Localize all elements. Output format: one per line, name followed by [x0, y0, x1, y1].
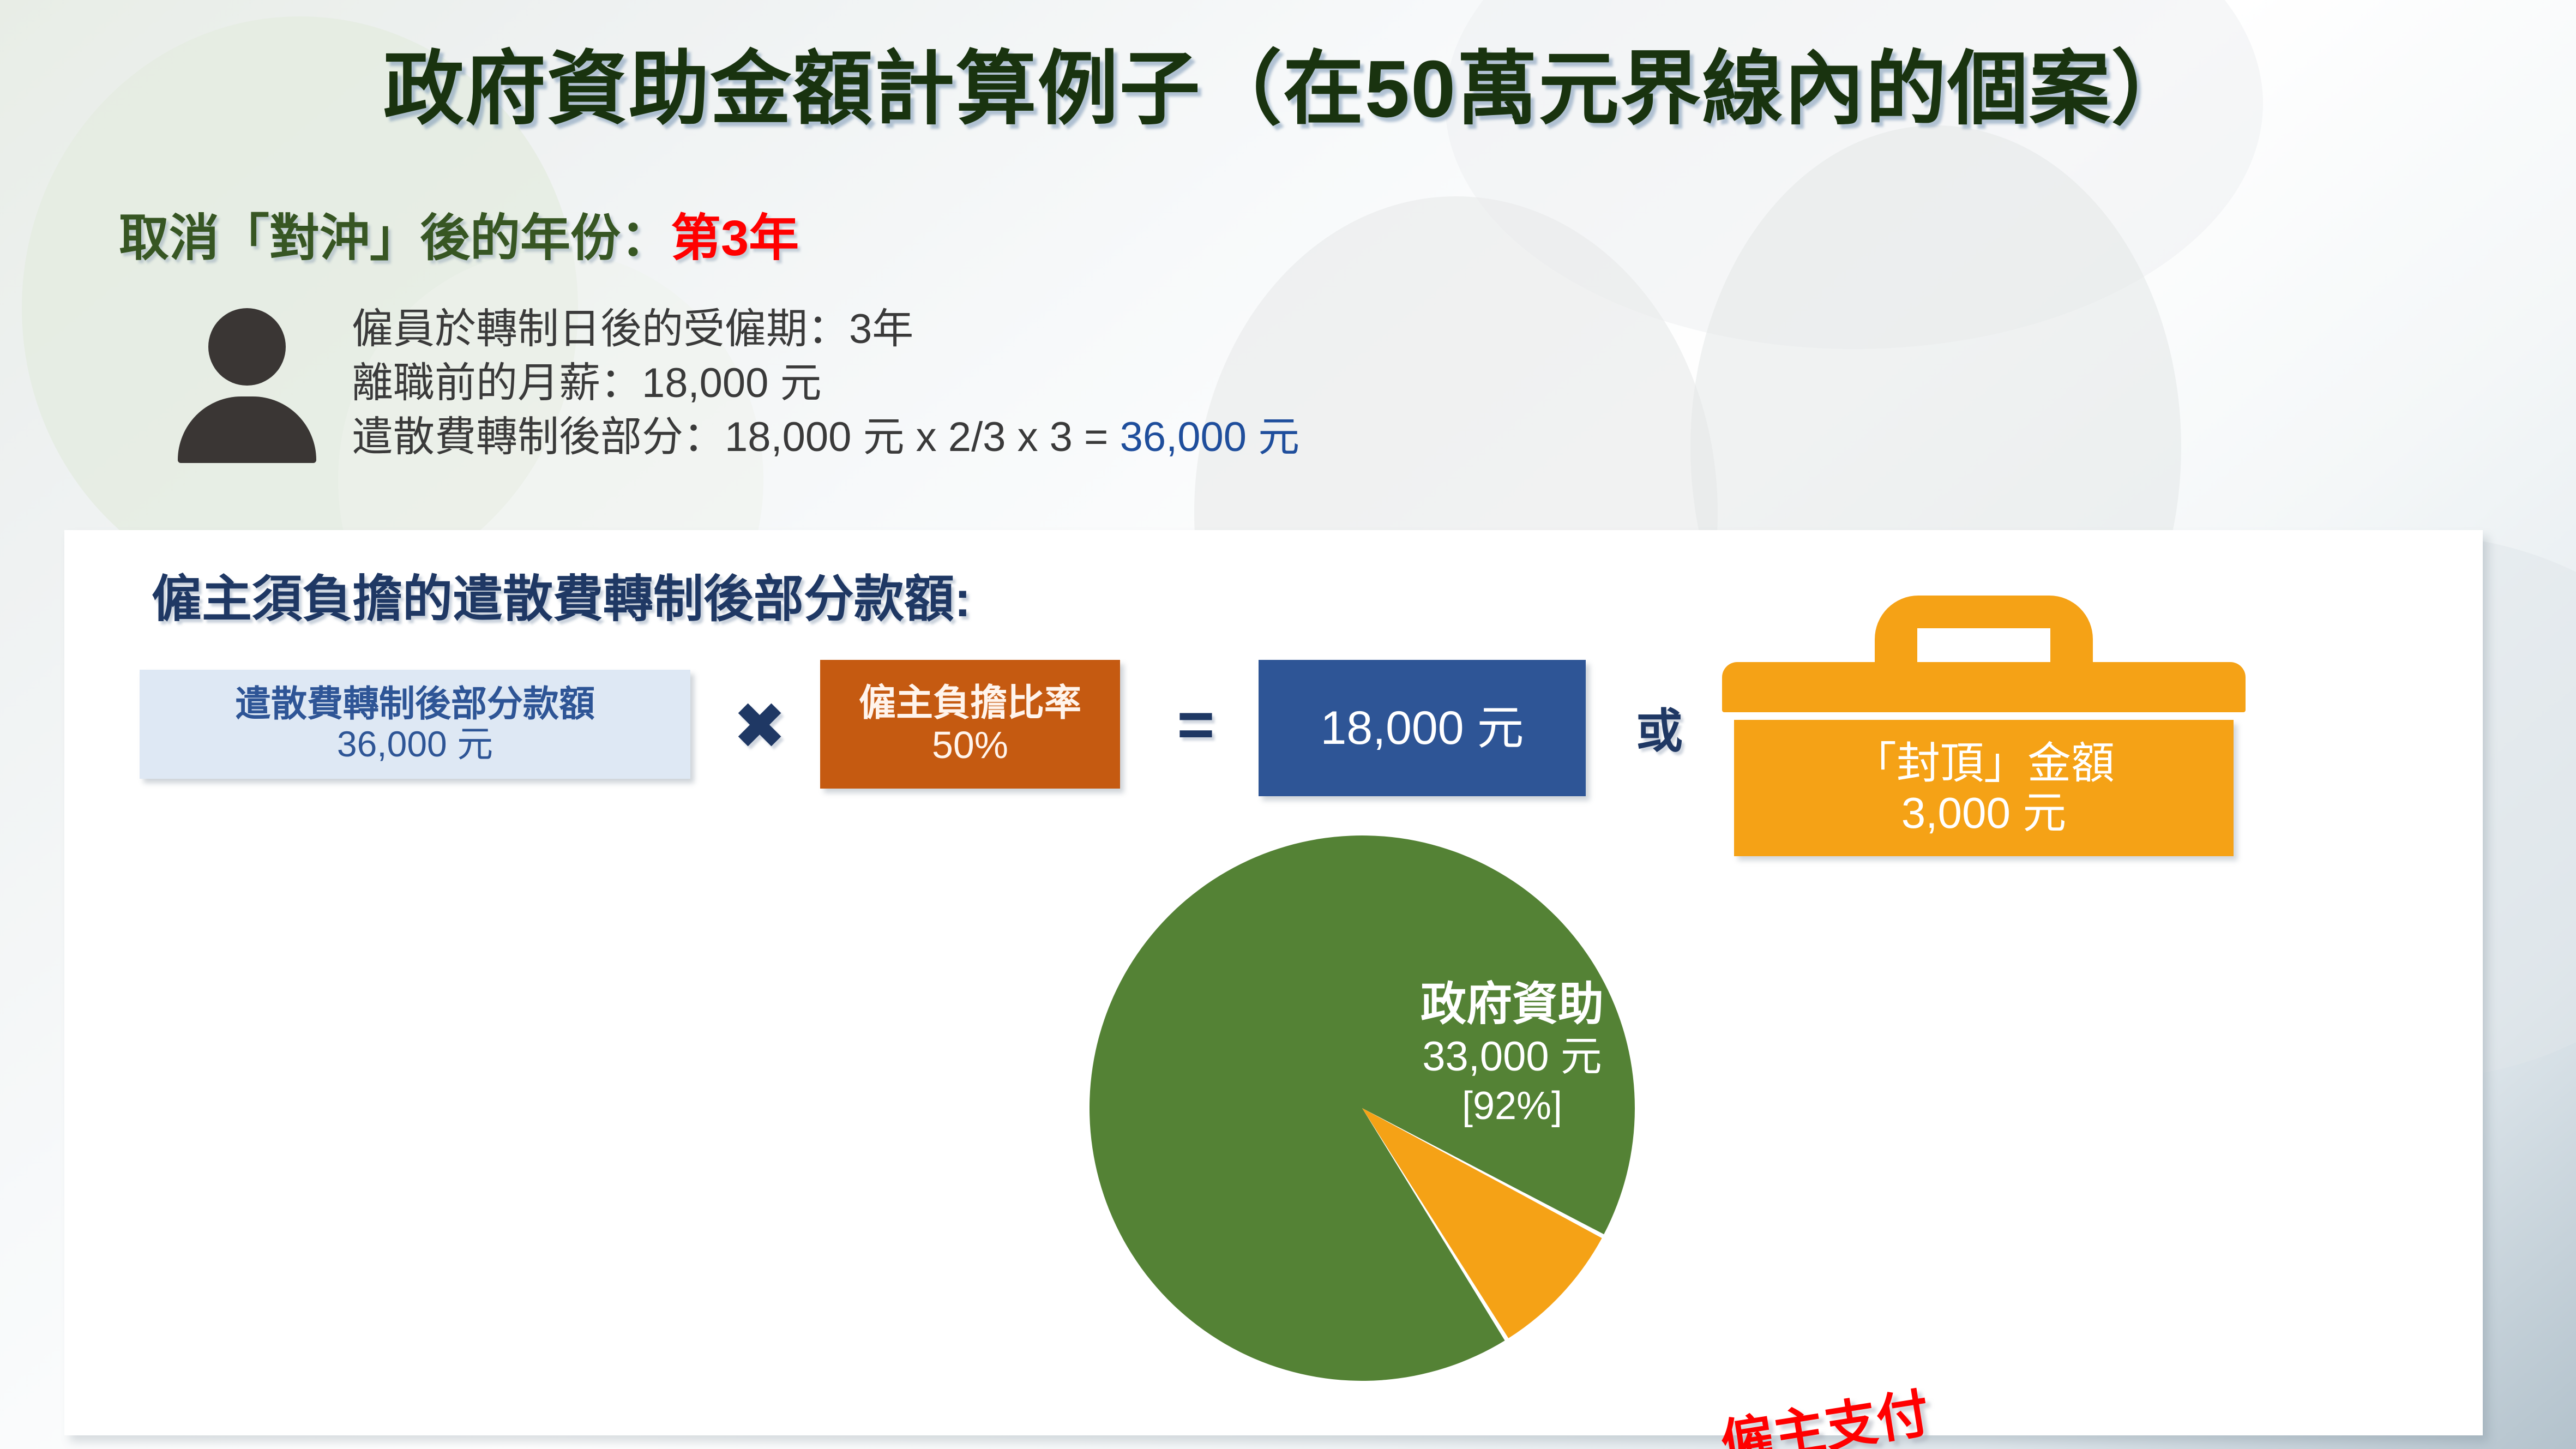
lower-amount-note: 僱主支付 較低的金額	[1711, 1403, 2158, 1449]
severance-amount-label: 遣散費轉制後部分款額	[235, 684, 595, 724]
person-head-shape	[208, 308, 286, 386]
employer-share-rate-label: 僱主負擔比率	[859, 682, 1081, 724]
fact-severance-result: 36,000 元	[1120, 414, 1300, 460]
fact-severance-portion: 遣散費轉制後部分：18,000 元 x 2/3 x 3 = 36,000 元	[352, 411, 1299, 465]
cap-amount-value: 3,000 元	[1901, 788, 2066, 838]
cap-amount-group: 「封頂」金額 3,000 元	[1722, 596, 2246, 797]
severance-amount-value: 36,000 元	[337, 724, 493, 765]
severance-amount-box: 遣散費轉制後部分款額 36,000 元	[140, 670, 690, 779]
subtitle-line: 取消「對沖」後的年份：第3年	[119, 197, 799, 270]
formula-row: 遣散費轉制後部分款額 36,000 元 ✖ 僱主負擔比率 50% = 18,00…	[124, 654, 2442, 818]
employer-share-rate-value: 50%	[932, 724, 1008, 766]
fact-employment-period: 僱員於轉制日後的受僱期：3年	[352, 303, 1299, 357]
subtitle-label: 取消「對沖」後的年份：	[119, 211, 671, 266]
fact-monthly-salary: 離職前的月薪：18,000 元	[352, 357, 1299, 411]
calculation-card: 僱主須負擔的遣散費轉制後部分款額: 遣散費轉制後部分款額 36,000 元 ✖ …	[64, 530, 2483, 1435]
employer-share-rate-box: 僱主負擔比率 50%	[820, 660, 1120, 789]
cap-amount-label: 「封頂」金額	[1853, 738, 2115, 788]
slide-title: 政府資助金額計算例子（在50萬元界線內的個案）	[0, 23, 2576, 140]
lower-amount-note-line1: 僱主支付	[1715, 1370, 1934, 1449]
pie-svg	[1090, 835, 1635, 1381]
person-body-shape	[178, 396, 316, 463]
fact-severance-formula: 遣散費轉制後部分：18,000 元 x 2/3 x 3 =	[352, 414, 1120, 460]
card-title: 僱主須負擔的遣散費轉制後部分款額:	[152, 558, 971, 631]
slide-root: 政府資助金額計算例子（在50萬元界線內的個案） 取消「對沖」後的年份：第3年 僱…	[0, 0, 2576, 1449]
cap-lid-bar-icon	[1722, 662, 2246, 712]
cap-amount-box: 「封頂」金額 3,000 元	[1734, 720, 2234, 856]
person-icon	[174, 308, 319, 461]
employee-facts: 僱員於轉制日後的受僱期：3年 離職前的月薪：18,000 元 遣散費轉制後部分：…	[352, 303, 1299, 464]
or-label: 或	[1618, 688, 1700, 765]
subsidy-pie-chart: 政府資助 33,000 元 [92%]	[1090, 835, 1635, 1381]
equals-icon: =	[1158, 689, 1234, 760]
multiply-icon: ✖	[724, 690, 795, 761]
subtitle-value: 第3年	[671, 211, 799, 266]
computed-amount-box: 18,000 元	[1259, 660, 1586, 796]
